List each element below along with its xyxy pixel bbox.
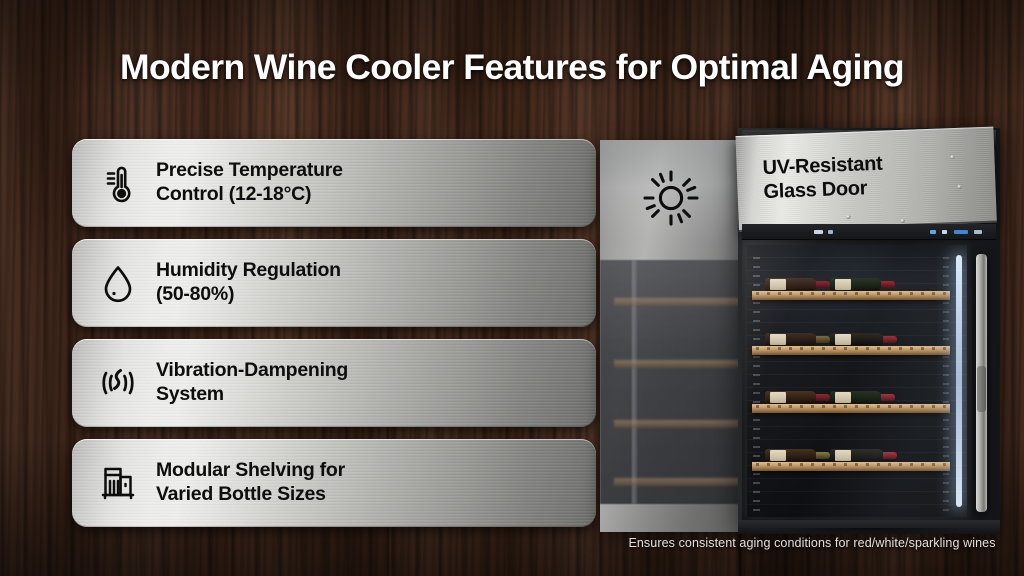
water-droplet-icon [94, 259, 142, 307]
feature-card-list: Precise Temperature Control (12-18°C) Hu… [72, 139, 596, 539]
thermometer-icon [94, 159, 142, 207]
cooler-glass-door[interactable] [742, 240, 972, 522]
bottle-neck [881, 394, 895, 401]
bottle-label [770, 392, 786, 403]
shelving-icon [94, 459, 142, 507]
cooler-side-panel [600, 140, 746, 532]
wine-bottle [765, 449, 817, 462]
feature-card-humidity[interactable]: Humidity Regulation (50-80%) [72, 239, 596, 327]
uv-resistant-label-panel[interactable]: UV-Resistant Glass Door [735, 127, 996, 232]
shelf-rail-left [753, 251, 760, 511]
bottle-label [770, 450, 786, 461]
wooden-shelf [752, 291, 950, 300]
control-led [974, 230, 982, 234]
control-led [814, 230, 823, 234]
wine-bottle [830, 449, 884, 462]
control-led [954, 230, 968, 234]
bottle-neck [816, 452, 830, 459]
wine-bottle [765, 333, 817, 346]
bottle-neck [883, 336, 897, 343]
bottle-label [835, 450, 851, 461]
cooler-door-handle[interactable] [976, 254, 987, 512]
feature-card-shelving[interactable]: Modular Shelving for Varied Bottle Sizes [72, 439, 596, 527]
shelf-rail-right [943, 251, 949, 511]
feature-card-temperature[interactable]: Precise Temperature Control (12-18°C) [72, 139, 596, 227]
vibration-waves-icon [94, 359, 142, 407]
control-led [930, 230, 936, 234]
panel-screw [957, 185, 961, 189]
interior-led-strip [956, 255, 962, 507]
cooler-control-panel[interactable] [742, 224, 996, 240]
bottle-label [770, 279, 786, 290]
bottle-neck [816, 281, 830, 288]
wooden-shelf [752, 404, 950, 413]
bottle-label [835, 279, 851, 290]
bottle-neck [883, 452, 897, 459]
panel-screw [950, 155, 954, 159]
wine-bottle [830, 333, 884, 346]
wine-cooler-image: UV-Resistant Glass Door [600, 128, 1000, 528]
uv-panel-label: UV-Resistant Glass Door [762, 152, 883, 204]
wooden-shelf [752, 346, 950, 355]
feature-card-label: Humidity Regulation (50-80%) [156, 259, 341, 307]
bottle-neck [881, 281, 895, 288]
feature-card-label: Vibration-Dampening System [156, 359, 348, 407]
wine-bottle [830, 391, 882, 404]
sun-icon [640, 167, 702, 234]
bottle-label [770, 334, 786, 345]
feature-card-label: Precise Temperature Control (12-18°C) [156, 159, 343, 207]
bottle-label [835, 334, 851, 345]
infographic-stage: Modern Wine Cooler Features for Optimal … [0, 0, 1024, 576]
control-led [942, 230, 947, 234]
wooden-shelf [752, 462, 950, 471]
bottle-neck [816, 394, 830, 401]
wine-bottle [765, 278, 817, 291]
feature-card-label: Modular Shelving for Varied Bottle Sizes [156, 459, 345, 507]
footer-caption: Ensures consistent aging conditions for … [600, 536, 1024, 550]
cooler-interior [747, 245, 967, 517]
bottle-neck [816, 336, 830, 343]
panel-screw [846, 215, 850, 219]
wine-bottle [765, 391, 817, 404]
handle-grip [977, 366, 986, 412]
page-title: Modern Wine Cooler Features for Optimal … [0, 47, 1024, 88]
wine-bottle [830, 278, 882, 291]
feature-card-vibration[interactable]: Vibration-Dampening System [72, 339, 596, 427]
panel-screw [901, 219, 905, 223]
control-led [828, 230, 833, 234]
bottle-label [835, 392, 851, 403]
